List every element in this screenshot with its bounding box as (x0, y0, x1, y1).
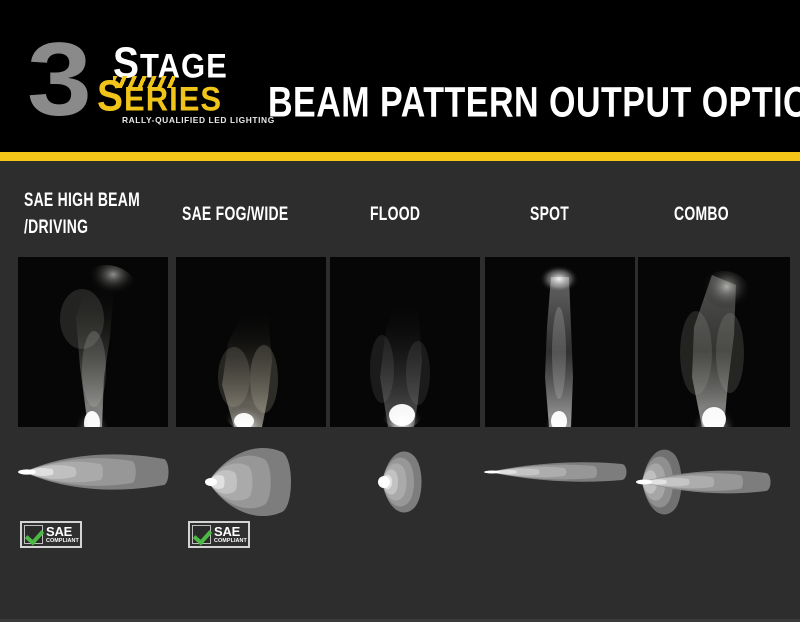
beam-diagram-sae-fog-wide (184, 439, 334, 530)
diode-dynamics-stage-series-logo: 3 STAGE SERIES RALLY-QUALIFIED LED LIGHT… (27, 34, 242, 126)
night-beam-photo-render (18, 257, 168, 427)
beam-photo-combo (638, 257, 790, 427)
beam-spread-shape (358, 439, 453, 525)
beam-photo-flood (330, 257, 480, 427)
page-title: BEAM PATTERN OUTPUT OPTIONS (268, 79, 800, 128)
column-label: FLOOD (370, 201, 500, 228)
column-label: COMBO (674, 201, 800, 228)
sae-compliant-badge: SAE COMPLIANT (188, 521, 250, 548)
night-beam-photo-render (485, 257, 635, 427)
beam-photo-sae-high-beam-driving (18, 257, 168, 427)
column-spot: SPOT (485, 161, 635, 622)
sae-compliant-badge: SAE COMPLIANT (20, 521, 82, 548)
column-flood: FLOOD (330, 161, 480, 622)
green-check-icon (192, 525, 211, 544)
yellow-accent-divider (0, 152, 800, 161)
sae-badge-subtitle: COMPLIANT (214, 539, 247, 544)
beam-spread-shape (14, 439, 179, 505)
sae-badge-title: SAE (214, 525, 247, 538)
logo-word-series: SERIES (97, 79, 222, 116)
beam-photo-sae-fog-wide (176, 257, 326, 427)
sae-badge-text: SAE COMPLIANT (214, 525, 247, 544)
beam-diagram-flood (358, 439, 453, 530)
sae-badge-title: SAE (46, 525, 79, 538)
night-beam-photo-render (176, 257, 326, 427)
sae-badge-subtitle: COMPLIANT (46, 539, 79, 544)
beam-diagram-sae-high-beam-driving (14, 439, 179, 510)
column-sae-high-beam-driving: SAE HIGH BEAM /DRIVING (18, 161, 168, 622)
column-sae-fog-wide: SAE FOG/WIDE (176, 161, 326, 622)
night-beam-photo-render (330, 257, 480, 427)
logo-tagline: RALLY-QUALIFIED LED LIGHTING (122, 115, 275, 125)
beam-diagram-combo (612, 439, 794, 530)
column-combo: COMBO (638, 161, 790, 622)
beam-spread-shape (184, 439, 334, 525)
beam-pattern-infographic: 3 STAGE SERIES RALLY-QUALIFIED LED LIGHT… (0, 0, 800, 622)
green-check-icon (24, 525, 43, 544)
header-banner: 3 STAGE SERIES RALLY-QUALIFIED LED LIGHT… (0, 0, 800, 152)
night-beam-photo-render (638, 257, 790, 427)
column-label: SAE FOG/WIDE (182, 201, 335, 228)
comparison-grid: SAE HIGH BEAM /DRIVING (0, 161, 800, 622)
logo-numeral-3: 3 (27, 28, 87, 132)
sae-badge-text: SAE COMPLIANT (46, 525, 79, 544)
beam-spread-shape (612, 439, 794, 525)
column-label: SAE HIGH BEAM /DRIVING (24, 187, 177, 241)
beam-photo-spot (485, 257, 635, 427)
